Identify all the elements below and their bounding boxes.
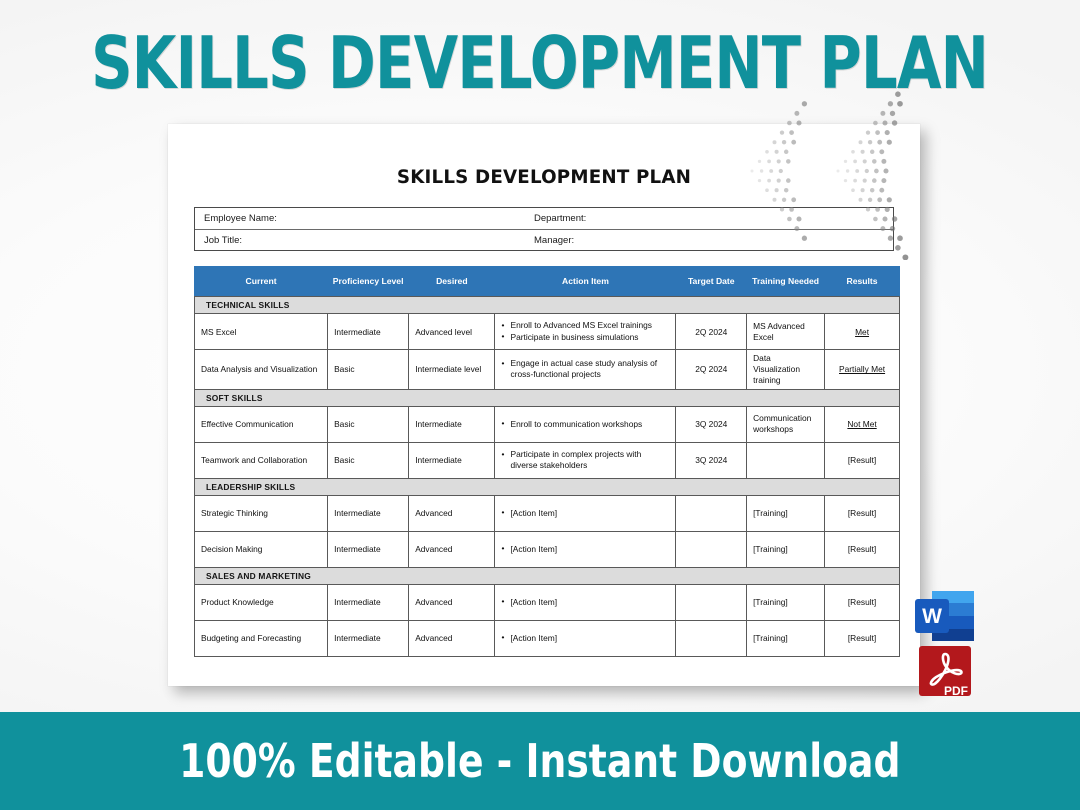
col-results: Results [825, 267, 900, 297]
cell-action-item: Enroll to Advanced MS Excel trainingsPar… [495, 314, 676, 350]
cell-desired: Advanced [409, 495, 495, 531]
cell-result: Partially Met [825, 350, 900, 390]
cell-proficiency: Intermediate [328, 531, 409, 567]
table-row: Data Analysis and VisualizationBasicInte… [195, 350, 900, 390]
cell-proficiency: Intermediate [328, 314, 409, 350]
col-action-item: Action Item [495, 267, 676, 297]
cell-proficiency: Basic [328, 442, 409, 478]
cell-desired: Intermediate level [409, 350, 495, 390]
cell-result: [Result] [825, 584, 900, 620]
employee-info-box: Employee Name: Department: Job Title: Ma… [194, 207, 894, 251]
cell-action-item: [Action Item] [495, 495, 676, 531]
cell-current: Budgeting and Forecasting [195, 620, 328, 656]
cell-training-needed: [Training] [747, 495, 825, 531]
result-value: [Result] [848, 508, 876, 518]
cell-result: Met [825, 314, 900, 350]
cell-target-date [676, 584, 747, 620]
section-header-row: TECHNICAL SKILLS [195, 297, 900, 314]
cell-proficiency: Intermediate [328, 495, 409, 531]
cell-desired: Intermediate [409, 406, 495, 442]
document-title: SKILLS DEVELOPMENT PLAN [183, 166, 905, 188]
section-title: SOFT SKILLS [195, 389, 900, 406]
cell-target-date [676, 620, 747, 656]
action-item: [Action Item] [501, 597, 669, 608]
table-row: Effective CommunicationBasicIntermediate… [195, 406, 900, 442]
cell-training-needed: MS Advanced Excel [747, 314, 825, 350]
cell-result: [Result] [825, 442, 900, 478]
cell-training-needed: [Training] [747, 584, 825, 620]
cell-current: Decision Making [195, 531, 328, 567]
cell-desired: Intermediate [409, 442, 495, 478]
skills-plan-table: Current Proficiency Level Desired Action… [194, 266, 900, 657]
footer-banner: 100% Editable - Instant Download [0, 712, 1080, 810]
cell-proficiency: Intermediate [328, 584, 409, 620]
footer-banner-text: 100% Editable - Instant Download [179, 734, 900, 788]
action-item: Participate in complex projects with div… [501, 449, 669, 471]
promo-headline: SKILLS DEVELOPMENT PLAN [92, 27, 989, 99]
action-item: [Action Item] [501, 633, 669, 644]
table-row: Product KnowledgeIntermediateAdvanced[Ac… [195, 584, 900, 620]
cell-training-needed: [Training] [747, 531, 825, 567]
result-value: Met [855, 327, 869, 337]
document-page: SKILLS DEVELOPMENT PLAN Employee Name: D… [168, 124, 920, 686]
table-row: Decision MakingIntermediateAdvanced[Acti… [195, 531, 900, 567]
result-value: [Result] [848, 597, 876, 607]
col-desired: Desired [409, 267, 495, 297]
job-title-label: Job Title: [195, 235, 525, 246]
section-title: SALES AND MARKETING [195, 567, 900, 584]
employee-name-label: Employee Name: [195, 213, 525, 224]
result-value: Not Met [847, 419, 876, 429]
col-proficiency: Proficiency Level [328, 267, 409, 297]
pdf-icon: PDF [916, 645, 974, 701]
cell-training-needed: [Training] [747, 620, 825, 656]
action-item: Enroll to communication workshops [501, 419, 669, 430]
cell-action-item: [Action Item] [495, 584, 676, 620]
cell-current: Product Knowledge [195, 584, 328, 620]
cell-action-item: Enroll to communication workshops [495, 406, 676, 442]
section-title: LEADERSHIP SKILLS [195, 478, 900, 495]
col-target-date: Target Date [676, 267, 747, 297]
table-body: TECHNICAL SKILLSMS ExcelIntermediateAdva… [195, 297, 900, 657]
cell-desired: Advanced [409, 531, 495, 567]
result-value: [Result] [848, 633, 876, 643]
table-row: Teamwork and CollaborationBasicIntermedi… [195, 442, 900, 478]
cell-result: [Result] [825, 620, 900, 656]
cell-proficiency: Intermediate [328, 620, 409, 656]
info-row: Employee Name: Department: [195, 208, 893, 229]
action-item: [Action Item] [501, 508, 669, 519]
cell-training-needed [747, 442, 825, 478]
section-header-row: SALES AND MARKETING [195, 567, 900, 584]
action-item: Engage in actual case study analysis of … [501, 358, 669, 380]
cell-result: [Result] [825, 495, 900, 531]
cell-desired: Advanced level [409, 314, 495, 350]
cell-current: MS Excel [195, 314, 328, 350]
cell-proficiency: Basic [328, 350, 409, 390]
table-row: Strategic ThinkingIntermediateAdvanced[A… [195, 495, 900, 531]
cell-target-date: 2Q 2024 [676, 314, 747, 350]
table-header: Current Proficiency Level Desired Action… [195, 267, 900, 297]
svg-text:W: W [922, 605, 942, 628]
cell-current: Teamwork and Collaboration [195, 442, 328, 478]
cell-action-item: Engage in actual case study analysis of … [495, 350, 676, 390]
word-icon: W [914, 589, 976, 643]
cell-current: Data Analysis and Visualization [195, 350, 328, 390]
cell-action-item: [Action Item] [495, 531, 676, 567]
result-value: [Result] [848, 544, 876, 554]
result-value: Partially Met [839, 364, 885, 374]
section-header-row: LEADERSHIP SKILLS [195, 478, 900, 495]
cell-target-date: 3Q 2024 [676, 442, 747, 478]
section-header-row: SOFT SKILLS [195, 389, 900, 406]
action-item: Participate in business simulations [501, 332, 669, 343]
promo-canvas: SKILLS DEVELOPMENT PLAN SKILLS DEVELOPME… [0, 0, 1080, 810]
cell-desired: Advanced [409, 584, 495, 620]
manager-label: Manager: [525, 235, 893, 246]
cell-target-date: 2Q 2024 [676, 350, 747, 390]
cell-current: Effective Communication [195, 406, 328, 442]
col-current: Current [195, 267, 328, 297]
department-label: Department: [525, 213, 893, 224]
cell-target-date: 3Q 2024 [676, 406, 747, 442]
action-item: [Action Item] [501, 544, 669, 555]
cell-proficiency: Basic [328, 406, 409, 442]
cell-training-needed: Data Visualization training [747, 350, 825, 390]
table-row: MS ExcelIntermediateAdvanced levelEnroll… [195, 314, 900, 350]
table-row: Budgeting and ForecastingIntermediateAdv… [195, 620, 900, 656]
cell-target-date [676, 495, 747, 531]
promo-headline-wrap: SKILLS DEVELOPMENT PLAN [0, 16, 1080, 110]
cell-result: Not Met [825, 406, 900, 442]
action-item: Enroll to Advanced MS Excel trainings [501, 320, 669, 331]
col-training: Training Needed [747, 267, 825, 297]
cell-training-needed: Communication workshops [747, 406, 825, 442]
section-title: TECHNICAL SKILLS [195, 297, 900, 314]
cell-action-item: [Action Item] [495, 620, 676, 656]
result-value: [Result] [848, 455, 876, 465]
cell-target-date [676, 531, 747, 567]
cell-action-item: Participate in complex projects with div… [495, 442, 676, 478]
cell-current: Strategic Thinking [195, 495, 328, 531]
info-row: Job Title: Manager: [195, 229, 893, 250]
pdf-label: PDF [944, 684, 968, 698]
table-header-row: Current Proficiency Level Desired Action… [195, 267, 900, 297]
cell-desired: Advanced [409, 620, 495, 656]
cell-result: [Result] [825, 531, 900, 567]
